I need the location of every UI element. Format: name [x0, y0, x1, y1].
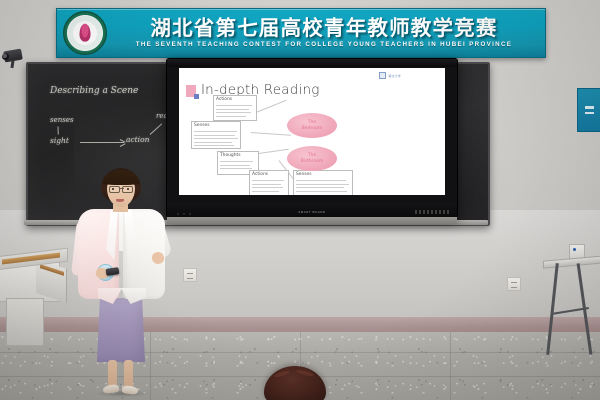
- classroom-scene: 湖北省第七届高校青年教师教学竞赛 THE SEVENTH TEACHING CO…: [0, 0, 600, 400]
- chalk-sight: sight: [50, 136, 69, 145]
- diagram-box-title: Actions: [252, 172, 268, 177]
- slide-logo: 湖北大学: [379, 72, 401, 79]
- diagram-box-title: Senses: [194, 123, 210, 128]
- glasses-icon: [109, 186, 133, 192]
- equipment-stand: [543, 258, 600, 362]
- diagram-box-senses-bottom: Senses: [293, 170, 353, 195]
- lectern: [0, 252, 68, 344]
- interactive-display[interactable]: SMART BOARD 湖北大学 In-depth Reading: [166, 58, 458, 218]
- diagram-node-bedroom: The Bedroom: [287, 113, 337, 138]
- diagram-box-title: Actions: [216, 97, 232, 102]
- slide-logo-mark-icon: [379, 72, 386, 79]
- equipment-led-icon: [573, 248, 576, 251]
- display-bezel-top: [167, 59, 457, 67]
- diagram-box-actions-top: Actions: [213, 95, 257, 121]
- presenter-leg-right: [124, 360, 133, 388]
- diagram-node-line2: Bedroom: [302, 126, 323, 131]
- floor-tile-line: [450, 332, 451, 400]
- display-mount-bar: [167, 217, 457, 224]
- presentation-slide: 湖北大学 In-depth Reading Actions: [179, 68, 445, 195]
- banner-title-en: THE SEVENTH TEACHING CONTEST FOR COLLEGE…: [107, 41, 541, 48]
- chalk-senses: senses: [50, 116, 74, 124]
- power-outlet: [183, 268, 197, 282]
- chalk-action: action: [126, 135, 149, 144]
- diagram-box-title: Thoughts: [220, 153, 241, 158]
- diagram-node-line2: Bathroom: [301, 159, 324, 164]
- presenter-mouth: [116, 199, 124, 202]
- slide-logo-text: 湖北大学: [388, 74, 401, 78]
- presenter: [68, 168, 174, 396]
- diagram-box-actions-bottom: Actions: [249, 170, 289, 195]
- banner-title-cn: 湖北省第七届高校青年教师教学竞赛: [107, 18, 541, 39]
- event-banner: 湖北省第七届高校青年教师教学竞赛 THE SEVENTH TEACHING CO…: [56, 8, 546, 58]
- diagram-connector: [251, 132, 291, 135]
- diagram-box-title: Senses: [296, 172, 312, 177]
- display-controls-icon: [415, 210, 449, 214]
- display-brand-label: SMART BOARD: [298, 210, 325, 214]
- diagram-node-bathroom: The Bathroom: [287, 146, 337, 171]
- chalk-heading: Describing a Scene: [50, 86, 138, 96]
- university-emblem-icon: [63, 11, 107, 55]
- wall-sign: [577, 88, 600, 132]
- power-outlet: [507, 277, 521, 291]
- display-bezel-bottom: SMART BOARD: [167, 203, 457, 217]
- presenter-hair-fringe: [102, 170, 140, 185]
- chalk-stroke: [58, 126, 59, 134]
- presenter-skirt: [97, 298, 145, 362]
- diagram-box-senses-left: Senses: [191, 121, 241, 149]
- chalk-arrow-shaft: [80, 142, 124, 143]
- display-screen[interactable]: 湖北大学 In-depth Reading Actions: [179, 68, 445, 195]
- wall-camera-icon: [2, 48, 28, 68]
